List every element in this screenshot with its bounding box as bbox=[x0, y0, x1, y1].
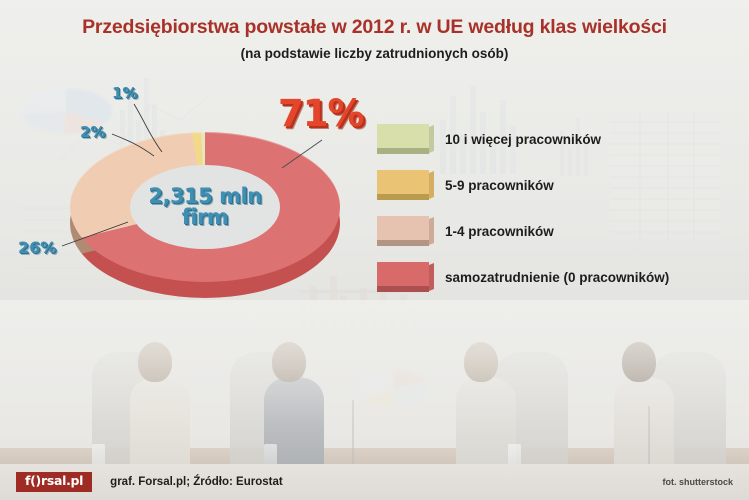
callout-leader-line-71 bbox=[0, 0, 749, 500]
callout-2-percent: 2% bbox=[80, 123, 105, 141]
infographic-canvas: Przedsiębiorstwa powstałe w 2012 r. w UE… bbox=[0, 0, 749, 500]
callout-1-percent: 1% bbox=[112, 84, 137, 102]
callout-26-percent: 26% bbox=[18, 238, 56, 257]
photo-credit: fot. shutterstock bbox=[662, 477, 733, 487]
source-credit: graf. Forsal.pl; Źródło: Eurostat bbox=[110, 476, 283, 488]
forsal-logo[interactable]: f()rsal.pl bbox=[16, 472, 92, 492]
callout-71-percent: 71% bbox=[278, 92, 364, 135]
footer: f()rsal.pl graf. Forsal.pl; Źródło: Euro… bbox=[0, 464, 749, 500]
